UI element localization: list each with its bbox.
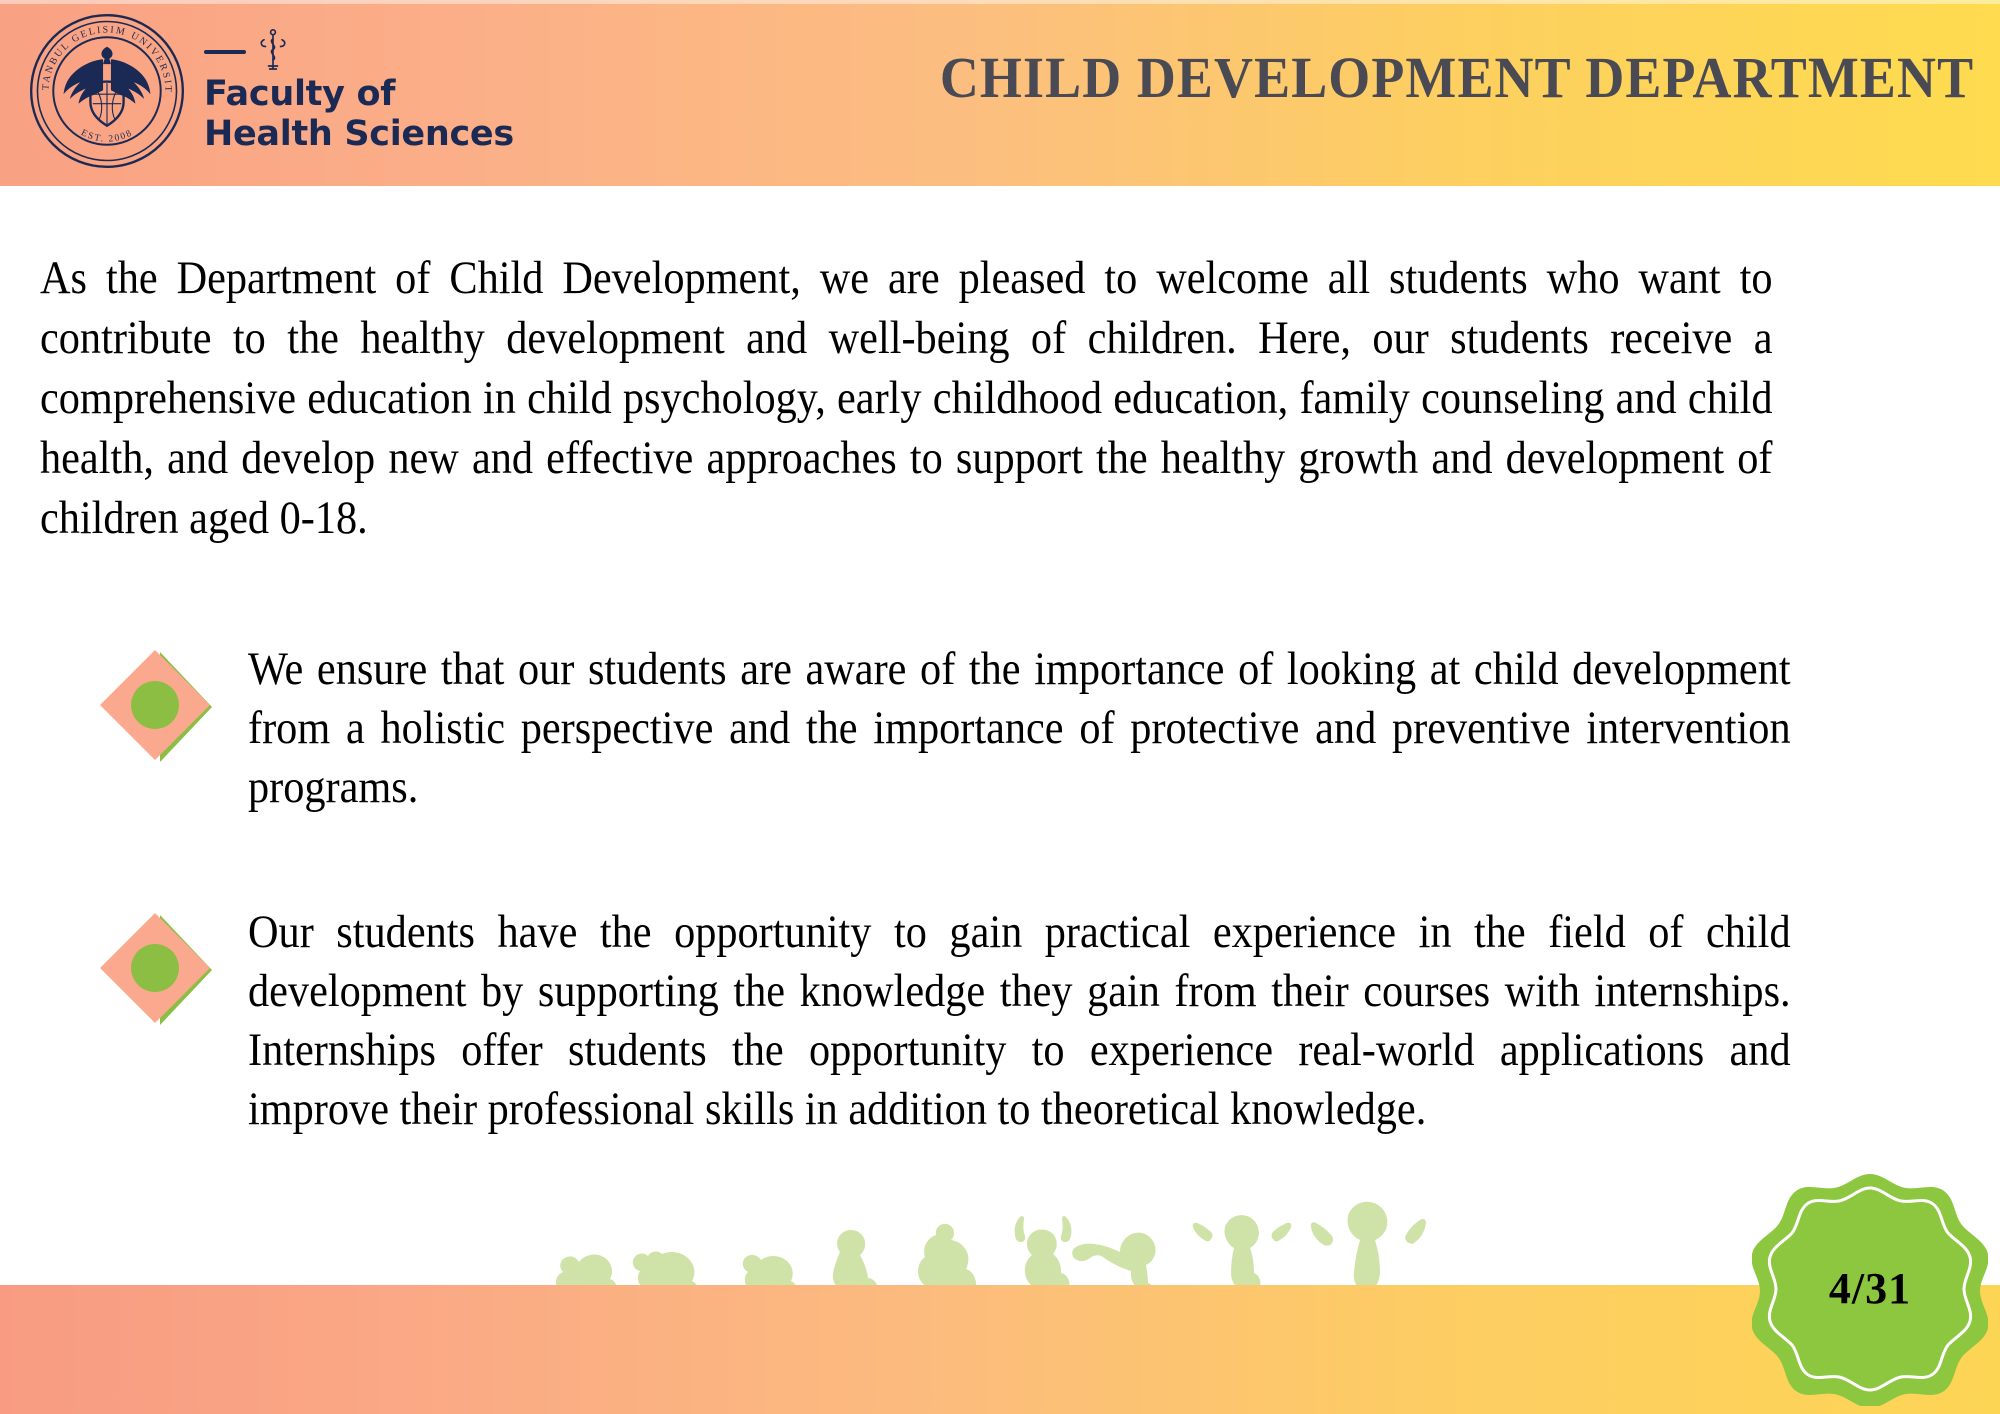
caduceus-icon	[258, 27, 288, 77]
intro-paragraph: As the Department of Child Development, …	[40, 248, 1773, 548]
page-number-badge: 4/31	[1752, 1170, 1988, 1406]
faculty-mark	[204, 32, 514, 72]
header-top-accent-line	[0, 0, 2000, 4]
list-item: We ensure that our students are aware of…	[0, 640, 2000, 817]
list-item: Our students have the opportunity to gai…	[0, 903, 2000, 1139]
bullet-list: We ensure that our students are aware of…	[0, 640, 2000, 1139]
faculty-name-block: Faculty of Health Sciences	[204, 32, 514, 154]
diamond-bullet-icon	[98, 911, 216, 1029]
university-seal-icon: ISTANBUL GELISIM UNIVERSITY EST. 2008	[28, 12, 186, 170]
page-number-label: 4/31	[1752, 1170, 1988, 1406]
list-item-text: We ensure that our students are aware of…	[248, 640, 1791, 817]
diamond-bullet-icon	[98, 648, 216, 766]
faculty-line-2: Health Sciences	[204, 114, 514, 154]
dash-icon	[204, 50, 246, 54]
faculty-line-1: Faculty of	[204, 74, 514, 114]
slide-header: ISTANBUL GELISIM UNIVERSITY EST. 2008	[0, 0, 2000, 186]
slide: ISTANBUL GELISIM UNIVERSITY EST. 2008	[0, 0, 2000, 1414]
brand-logo-block[interactable]: ISTANBUL GELISIM UNIVERSITY EST. 2008	[28, 12, 514, 170]
page-title: CHILD DEVELOPMENT DEPARTMENT	[940, 44, 1974, 111]
list-item-text: Our students have the opportunity to gai…	[248, 903, 1791, 1139]
child-development-silhouettes-icon	[540, 1171, 1460, 1296]
svg-text:EST. 2008: EST. 2008	[79, 128, 135, 145]
slide-footer	[0, 1285, 2000, 1414]
